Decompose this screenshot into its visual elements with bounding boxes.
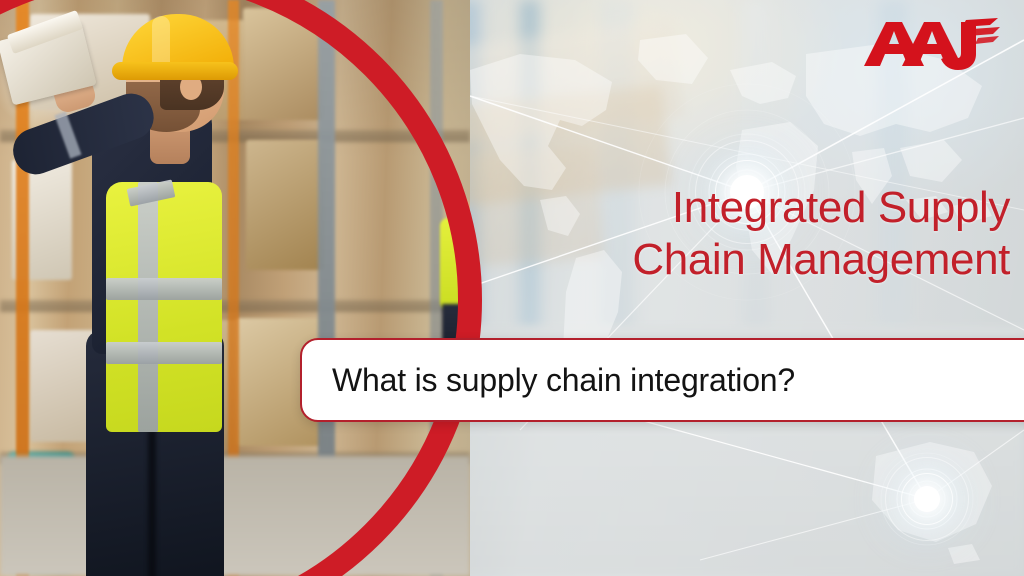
subtitle-text: What is supply chain integration? [332, 362, 795, 399]
aaj-logo[interactable] [862, 16, 1002, 74]
warehouse-worker-yellow-helmet [0, 0, 470, 576]
headline-line-2: Chain Management [510, 234, 1010, 286]
page-title: Integrated Supply Chain Management [510, 182, 1010, 286]
headline-line-1: Integrated Supply [510, 182, 1010, 234]
subtitle-pill: What is supply chain integration? [300, 338, 1024, 422]
warehouse-worker-photo [0, 0, 470, 576]
marketing-banner: Integrated Supply Chain Management What … [0, 0, 1024, 576]
